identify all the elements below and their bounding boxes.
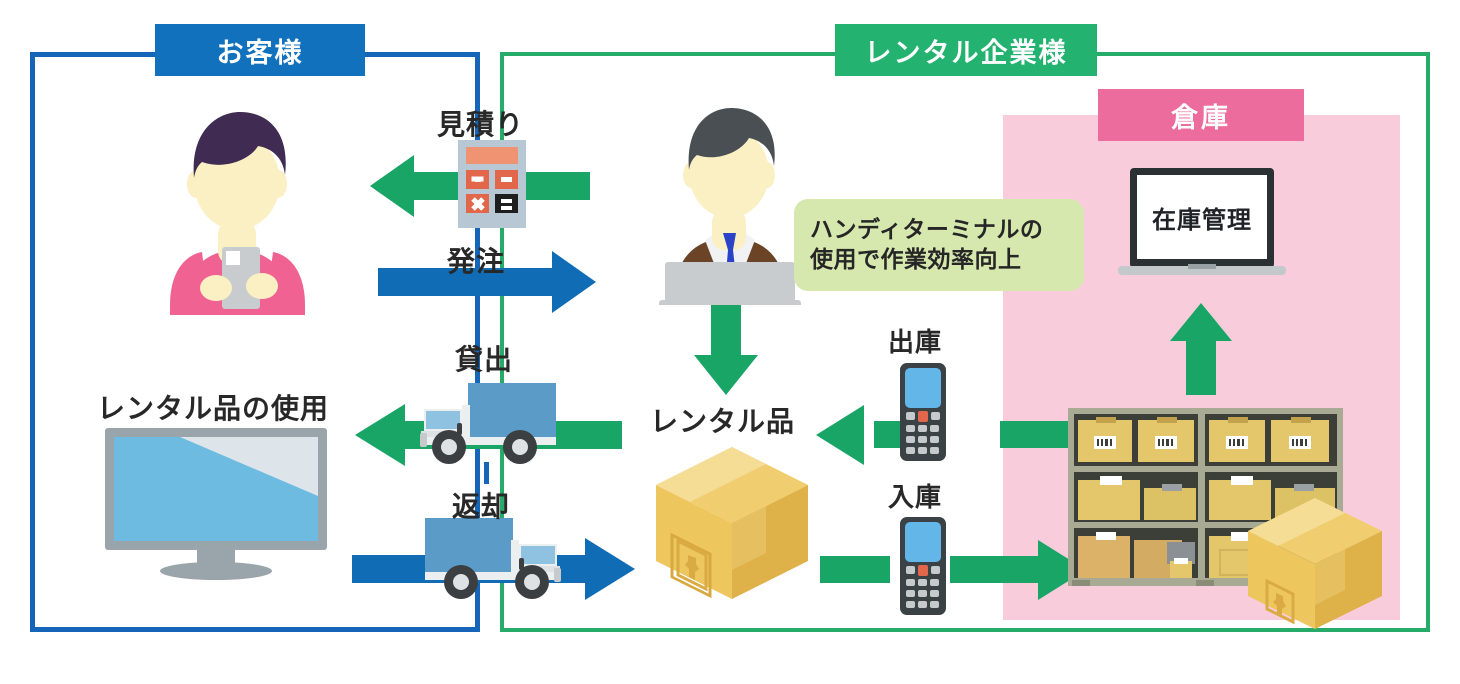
diagram-canvas: お客様 レンタル企業様 倉庫 <box>0 0 1460 684</box>
label-rental-item: レンタル品 <box>650 400 795 440</box>
vendor-section-header: レンタル企業様 <box>835 24 1097 76</box>
businessman-with-laptop-icon <box>655 100 805 305</box>
delivery-truck-left-icon <box>416 375 561 470</box>
label-inbound: 入庫 <box>888 477 942 514</box>
cardboard-box-icon <box>648 443 816 603</box>
handheld-terminal-icon <box>898 363 948 463</box>
person-with-smartphone-icon <box>150 100 325 315</box>
laptop-icon: 在庫管理 <box>1118 168 1286 280</box>
laptop-screen-text: 在庫管理 <box>1152 200 1252 235</box>
calculator-icon <box>458 140 526 228</box>
label-outbound: 出庫 <box>888 322 942 359</box>
label-return: 返却 <box>452 485 510 525</box>
label-quote: 見積り <box>437 103 524 143</box>
warehouse-section-header: 倉庫 <box>1098 89 1304 141</box>
handy-terminal-callout: ハンディターミナルの 使用で作業効率向上 <box>794 199 1084 291</box>
label-lend: 貸出 <box>455 338 513 378</box>
callout-line-1: ハンディターミナルの <box>810 215 1068 245</box>
label-order: 発注 <box>447 240 505 280</box>
handheld-terminal-icon <box>898 517 948 617</box>
callout-line-2: 使用で作業効率向上 <box>810 245 1068 275</box>
television-icon <box>105 428 327 580</box>
label-rental-use: レンタル品の使用 <box>97 387 329 427</box>
cardboard-box-icon <box>1243 495 1388 633</box>
customer-section-header: お客様 <box>155 24 365 76</box>
